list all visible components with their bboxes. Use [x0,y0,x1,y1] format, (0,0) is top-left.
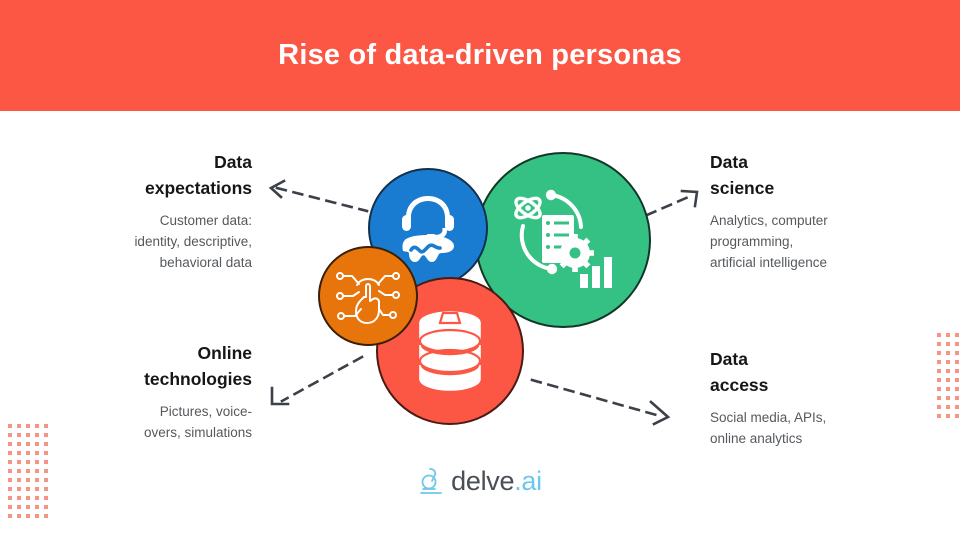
circle-data-expectations[interactable] [318,246,418,346]
logo-name: delve [451,466,514,496]
block-body: Customer data: identity, descriptive, be… [56,210,252,273]
brand-logo[interactable]: delve.ai [0,466,960,496]
block-heading: Data science [710,149,906,201]
arrow-to-data-science [645,188,705,220]
microscope-icon [418,466,444,496]
block-body: Pictures, voice- overs, simulations [56,401,252,443]
logo-wordmark: delve.ai [451,466,542,496]
page-title: Rise of data-driven personas [0,0,960,111]
icon-cluster [318,152,654,410]
block-heading: Data expectations [56,149,252,201]
block-data-science: Data science Analytics, computer program… [710,149,906,273]
block-body: Analytics, computer programming, artific… [710,210,906,273]
logo-suffix: .ai [514,466,542,496]
block-heading: Data access [710,346,906,398]
block-data-expectations: Data expectations Customer data: identit… [56,149,252,273]
dot-grid-right [937,333,960,418]
infographic-canvas: Rise of data-driven personas Data expect… [0,0,960,540]
block-heading: Online technologies [56,340,252,392]
block-body: Social media, APIs, online analytics [710,407,906,449]
touch-network-icon [320,248,416,344]
block-online-technologies: Online technologies Pictures, voice- ove… [56,340,252,443]
block-data-access: Data access Social media, APIs, online a… [710,346,906,449]
